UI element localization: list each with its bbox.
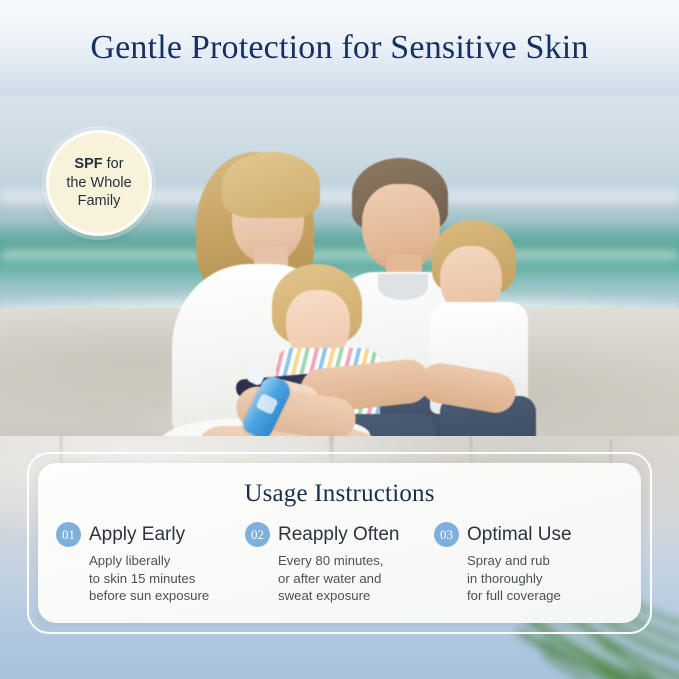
usage-instructions-panel: Usage Instructions 01 Apply Early Apply … — [38, 463, 641, 623]
step-item-01: 01 Apply Early Apply liberally to skin 1… — [56, 522, 245, 605]
step-number-badge: 03 — [434, 522, 459, 547]
steps-row: 01 Apply Early Apply liberally to skin 1… — [38, 522, 641, 605]
step-number-badge: 01 — [56, 522, 81, 547]
step-body: Every 80 minutes, or after water and swe… — [278, 552, 424, 605]
step-title: Apply Early — [89, 524, 185, 546]
spf-badge-line1-strong: SPF — [74, 156, 102, 172]
step-title: Reapply Often — [278, 524, 399, 546]
father-collar — [378, 274, 428, 300]
step-header: 03 Optimal Use — [434, 522, 613, 547]
page-title: Gentle Protection for Sensitive Skin — [90, 29, 588, 67]
step-number-badge: 02 — [245, 522, 270, 547]
step-title: Optimal Use — [467, 524, 572, 546]
step-item-02: 02 Reapply Often Every 80 minutes, or af… — [245, 522, 434, 605]
step-body: Apply liberally to skin 15 minutes befor… — [89, 552, 235, 605]
spf-badge-line2: the Whole — [66, 175, 131, 191]
poster-canvas: Gentle Protection for Sensitive Skin — [0, 0, 679, 679]
step-item-03: 03 Optimal Use Spray and rub in thorough… — [434, 522, 623, 605]
header-band: Gentle Protection for Sensitive Skin — [0, 0, 679, 96]
step-header: 02 Reapply Often — [245, 522, 424, 547]
mother-hair-front — [222, 152, 320, 218]
spf-badge: SPF for the Whole Family — [46, 130, 152, 236]
step-header: 01 Apply Early — [56, 522, 235, 547]
spf-badge-text: SPF for the Whole Family — [58, 155, 139, 211]
spf-badge-line3: Family — [78, 193, 121, 209]
step-body: Spray and rub in thoroughly for full cov… — [467, 552, 613, 605]
panel-title: Usage Instructions — [38, 480, 641, 508]
spf-badge-line1-rest: for — [103, 156, 124, 172]
